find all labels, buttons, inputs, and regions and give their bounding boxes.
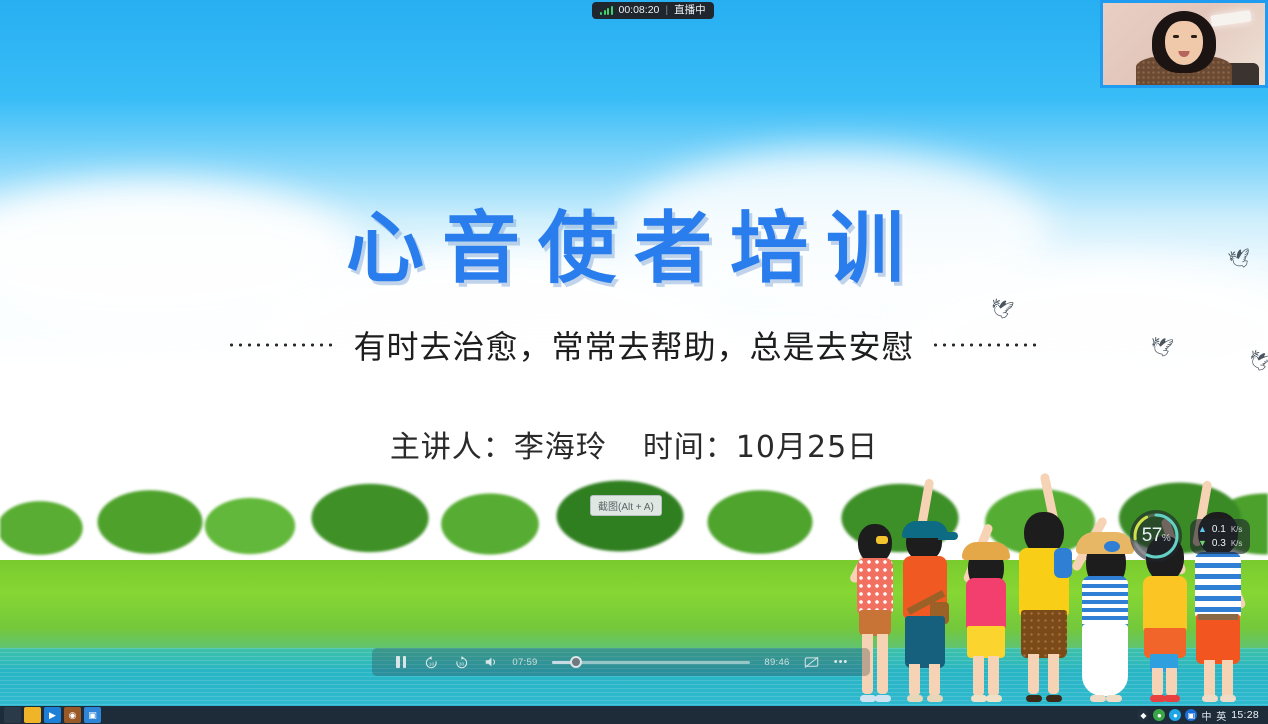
volume-icon bbox=[484, 655, 498, 669]
shoe bbox=[1046, 695, 1062, 702]
cap-brim bbox=[938, 532, 958, 540]
presenter-face bbox=[1165, 21, 1203, 65]
pause-icon bbox=[396, 656, 406, 668]
shoe bbox=[927, 695, 943, 702]
leg bbox=[877, 634, 888, 694]
shorts bbox=[1021, 610, 1067, 658]
volume-button[interactable] bbox=[476, 651, 506, 673]
dotted-rule-right bbox=[931, 343, 1041, 347]
leg bbox=[1204, 660, 1215, 698]
skirt bbox=[967, 626, 1005, 658]
performance-overlay-widget[interactable]: 57% ▲ 0.1 K/s ▼ 0.3 K/s bbox=[1130, 510, 1250, 562]
browser-app-icon[interactable]: ◉ bbox=[64, 707, 81, 723]
torso bbox=[1082, 576, 1128, 628]
shoe bbox=[875, 695, 891, 702]
photos-app-icon[interactable]: ▣ bbox=[84, 707, 101, 723]
penguin-tray-icon[interactable]: ◆ bbox=[1137, 709, 1149, 721]
shoe bbox=[1202, 695, 1218, 702]
bird-icon: 🕊 bbox=[988, 298, 1015, 321]
torso bbox=[966, 578, 1006, 630]
date-label: 时间： bbox=[643, 430, 736, 465]
cpu-usage-ring[interactable]: 57% bbox=[1130, 510, 1182, 562]
download-rate-unit: K/s bbox=[1231, 539, 1243, 548]
leg bbox=[1166, 668, 1177, 696]
badge-separator: | bbox=[665, 5, 668, 16]
hat-ribbon bbox=[1104, 541, 1120, 552]
shoe bbox=[971, 695, 987, 702]
presenter-eye-right bbox=[1191, 35, 1197, 38]
desktop-screen: 🕊 🕊 🕊 🕊 心音使者培训 有时去治愈，常常去帮助，总是去安慰 主讲人：李海玲… bbox=[0, 0, 1268, 724]
slide-subtitle-row: 有时去治愈，常常去帮助，总是去安慰 bbox=[0, 322, 1268, 368]
upload-rate-value: 0.1 bbox=[1212, 524, 1226, 535]
windows-taskbar[interactable]: ▶ ◉ ▣ ◆ ● ● ▣ 中 英 15:28 bbox=[0, 706, 1268, 724]
meeting-tray-icon[interactable]: ▣ bbox=[1185, 709, 1197, 721]
svg-text:10: 10 bbox=[428, 661, 434, 667]
shoe bbox=[860, 695, 876, 702]
person-figure bbox=[1186, 472, 1248, 702]
rewind-icon: 10 bbox=[424, 655, 439, 670]
presenter-eye-left bbox=[1173, 35, 1179, 38]
shoe bbox=[1026, 695, 1042, 702]
live-status-text: 直播中 bbox=[674, 5, 706, 16]
forward-30-button[interactable]: 30 bbox=[446, 651, 476, 673]
rewind-10-button[interactable]: 10 bbox=[416, 651, 446, 673]
system-tray: ◆ ● ● ▣ 中 英 15:28 bbox=[1137, 708, 1264, 723]
percent-unit: % bbox=[1162, 533, 1170, 544]
download-rate-value: 0.3 bbox=[1212, 538, 1226, 549]
cast-screen-icon bbox=[804, 656, 819, 669]
pause-button[interactable] bbox=[386, 651, 416, 673]
file-explorer-icon[interactable] bbox=[24, 707, 41, 723]
taskbar-app-icons: ▶ ◉ ▣ bbox=[4, 707, 104, 723]
seek-slider[interactable] bbox=[552, 655, 750, 669]
upload-arrow-icon: ▲ bbox=[1198, 524, 1207, 534]
more-options-icon: ••• bbox=[834, 656, 849, 668]
shoe bbox=[986, 695, 1002, 702]
start-button[interactable] bbox=[4, 707, 21, 723]
seek-handle[interactable] bbox=[570, 656, 582, 668]
live-status-badge[interactable]: 00:08:20 | 直播中 bbox=[592, 2, 714, 19]
person-figure bbox=[894, 470, 956, 702]
slide-title: 心音使者培训 bbox=[0, 186, 1268, 298]
leg bbox=[909, 664, 920, 696]
cloud-tray-icon[interactable]: ● bbox=[1169, 709, 1181, 721]
shoe bbox=[907, 695, 923, 702]
shoe bbox=[1090, 695, 1106, 702]
ime-indicator[interactable]: 中 英 bbox=[1201, 708, 1227, 723]
network-rates-panel: ▲ 0.1 K/s ▼ 0.3 K/s bbox=[1190, 519, 1250, 554]
presenter-webcam-pip[interactable] bbox=[1100, 0, 1268, 88]
person-figure bbox=[956, 506, 1014, 702]
upload-rate-unit: K/s bbox=[1231, 525, 1243, 534]
forward-icon: 30 bbox=[454, 655, 469, 670]
tray-clock[interactable]: 15:28 bbox=[1231, 709, 1259, 721]
more-options-button[interactable]: ••• bbox=[826, 651, 856, 673]
hair-bow bbox=[876, 536, 888, 544]
leg bbox=[929, 664, 940, 696]
dotted-rule-left bbox=[227, 343, 337, 347]
download-rate-row: ▼ 0.3 K/s bbox=[1198, 538, 1242, 549]
current-time: 07:59 bbox=[506, 657, 544, 668]
cast-button[interactable] bbox=[796, 651, 826, 673]
media-player-controls[interactable]: 10 30 07:59 8 bbox=[372, 648, 870, 676]
leg bbox=[1028, 654, 1039, 694]
upload-rate-row: ▲ 0.1 K/s bbox=[1198, 524, 1242, 535]
media-player-icon[interactable]: ▶ bbox=[44, 707, 61, 723]
presenter-name: 李海玲 bbox=[514, 430, 607, 465]
shorts bbox=[1196, 614, 1240, 664]
cpu-usage-value: 57% bbox=[1142, 525, 1171, 547]
leg bbox=[973, 656, 984, 696]
slide-subtitle: 有时去治愈，常常去帮助，总是去安慰 bbox=[353, 322, 914, 368]
svg-text:30: 30 bbox=[458, 661, 464, 667]
belt bbox=[1198, 614, 1238, 620]
signal-bars-icon bbox=[600, 6, 613, 15]
leg bbox=[988, 656, 999, 696]
shoe bbox=[1220, 695, 1236, 702]
shorts bbox=[859, 610, 891, 636]
people-illustration bbox=[838, 452, 1248, 702]
person-figure bbox=[1010, 466, 1076, 702]
leg bbox=[1222, 660, 1233, 698]
long-skirt bbox=[1082, 624, 1128, 696]
shoe bbox=[1164, 695, 1180, 702]
shorts bbox=[905, 616, 945, 668]
leg bbox=[1048, 654, 1059, 694]
screenshot-shortcut-tooltip: 截图(Alt + A) bbox=[590, 495, 662, 516]
webcam-video bbox=[1103, 3, 1265, 85]
straw-hat-icon bbox=[962, 542, 1010, 560]
shoe bbox=[1106, 695, 1122, 702]
torso bbox=[1143, 576, 1187, 632]
green-tray-icon[interactable]: ● bbox=[1153, 709, 1165, 721]
download-arrow-icon: ▼ bbox=[1198, 538, 1207, 548]
total-time: 89:46 bbox=[758, 657, 796, 668]
torso bbox=[857, 558, 893, 614]
leg bbox=[1152, 668, 1163, 696]
shared-slide-surface[interactable]: 🕊 🕊 🕊 🕊 心音使者培训 有时去治愈，常常去帮助，总是去安慰 主讲人：李海玲… bbox=[0, 0, 1268, 706]
wall-light bbox=[1210, 10, 1251, 26]
live-elapsed-time: 00:08:20 bbox=[619, 5, 660, 16]
presenter-label: 主讲人： bbox=[390, 430, 514, 465]
